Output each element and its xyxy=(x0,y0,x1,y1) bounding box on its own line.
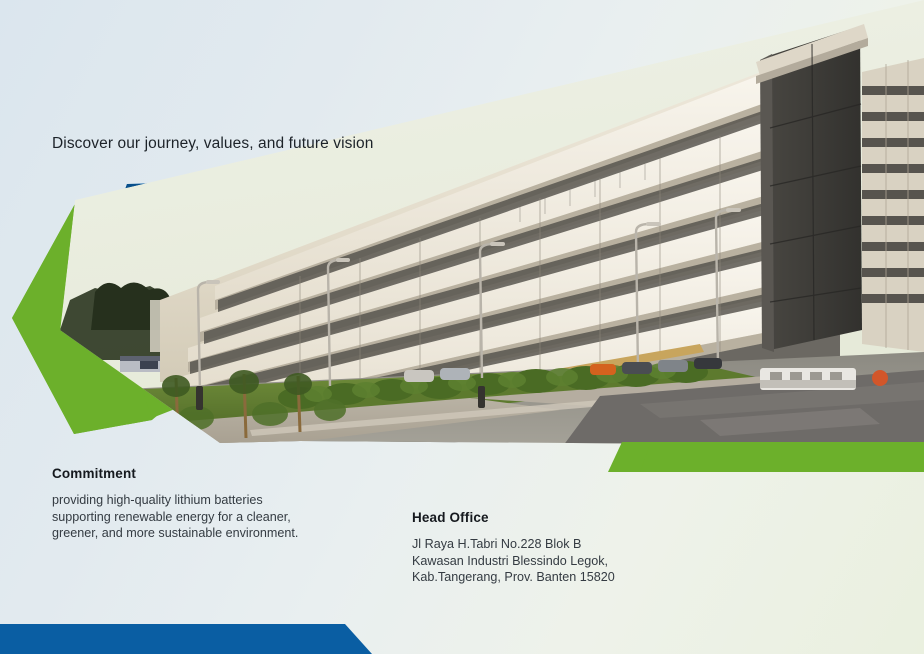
head-office-address: Jl Raya H.Tabri No.228 Blok B Kawasan In… xyxy=(412,536,712,586)
commitment-line-1: providing high-quality lithium batteries xyxy=(52,492,362,509)
address-line-1: Jl Raya H.Tabri No.228 Blok B xyxy=(412,536,712,553)
address-line-3: Kab.Tangerang, Prov. Banten 15820 xyxy=(412,569,712,586)
slide-canvas: Discover our journey, values, and future… xyxy=(0,0,924,654)
address-line-2: Kawasan Industri Blessindo Legok, xyxy=(412,553,712,570)
commitment-line-2: supporting renewable energy for a cleane… xyxy=(52,509,362,526)
commitment-block: Commitment providing high-quality lithiu… xyxy=(52,466,362,542)
page-headline: Discover our journey, values, and future… xyxy=(52,135,373,153)
commitment-title: Commitment xyxy=(52,466,362,481)
commitment-line-3: greener, and more sustainable environmen… xyxy=(52,525,362,542)
head-office-title: Head Office xyxy=(412,510,712,525)
head-office-block: Head Office Jl Raya H.Tabri No.228 Blok … xyxy=(412,510,712,586)
commitment-body: providing high-quality lithium batteries… xyxy=(52,492,362,542)
